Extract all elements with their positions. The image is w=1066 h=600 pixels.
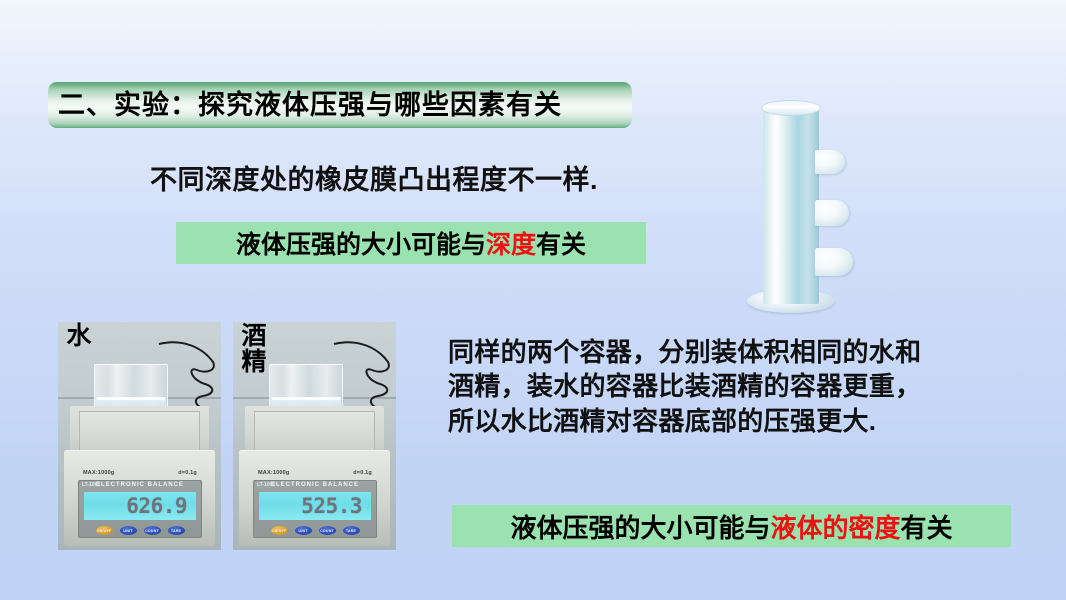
paragraph-line-1: 同样的两个容器，分别装体积相同的水和 (448, 335, 1048, 369)
meniscus-line (272, 397, 340, 400)
photo-label-water: 水 (64, 324, 94, 350)
scale-spec-row: MAX:1000g d=0.1g (79, 470, 201, 480)
scale-brand-label: ELECTRONIC BALANCE (79, 482, 201, 488)
scale-reading-value: 525.3 (301, 496, 362, 517)
scale-spec-d: d=0.1g (353, 470, 372, 480)
scale-plate-inner (79, 411, 200, 453)
cylinder-rim (761, 100, 821, 116)
explanation-paragraph: 同样的两个容器，分别装体积相同的水和 酒精，装水的容器比装酒精的容器更重， 所以… (448, 335, 1048, 438)
conclusion-density-prefix: 液体压强的大小可能与 (510, 508, 770, 545)
scale-button-row: ON/OFF UNIT COUNT TARE (254, 526, 376, 535)
scale-display-panel: MAX:1000g d=0.1g LT-1001 ELECTRONIC BALA… (78, 480, 202, 538)
scale-lcd: 525.3 (259, 492, 371, 520)
scale-button-tare[interactable]: TARE (168, 526, 185, 535)
paragraph-line-2: 酒精，装水的容器比装酒精的容器更重， (448, 369, 1048, 403)
conclusion-density-suffix: 有关 (901, 508, 953, 545)
rubber-membrane-middle-icon (815, 200, 849, 226)
scale-button-row: ON/OFF UNIT COUNT TARE (79, 526, 201, 535)
pressure-cylinder-apparatus (735, 98, 855, 313)
scale-lcd: 626.9 (84, 492, 196, 520)
scale-housing: MAX:1000g d=0.1g LT-1001 ELECTRONIC BALA… (239, 450, 390, 546)
rubber-membrane-top-icon (815, 150, 845, 174)
conclusion-density-accent: 液体的密度 (770, 508, 900, 545)
scale-display-panel: MAX:1000g d=0.1g LT-1001 ELECTRONIC BALA… (253, 480, 377, 538)
scale-button-onoff[interactable]: ON/OFF (271, 526, 288, 535)
scale-reading-value: 626.9 (126, 496, 187, 517)
scale-button-unit[interactable]: UNIT (120, 526, 137, 535)
scale-housing: MAX:1000g d=0.1g LT-1001 ELECTRONIC BALA… (64, 450, 215, 546)
scale-spec-max: MAX:1000g (258, 470, 289, 480)
scale-button-count[interactable]: COUNT (319, 526, 336, 535)
scale-button-onoff[interactable]: ON/OFF (96, 526, 113, 535)
scale-button-count[interactable]: COUNT (144, 526, 161, 535)
observation-statement: 不同深度处的橡皮膜凸出程度不一样. (150, 158, 598, 197)
meniscus-line (97, 397, 165, 400)
scale-spec-d: d=0.1g (178, 470, 197, 480)
photo-balance-alcohol: MAX:1000g d=0.1g LT-1001 ELECTRONIC BALA… (233, 322, 396, 550)
scale-plate-inner (254, 411, 375, 453)
conclusion-density-box: 液体压强的大小可能与液体的密度有关 (452, 505, 1011, 547)
slide-canvas: 二、实验：探究液体压强与哪些因素有关 不同深度处的橡皮膜凸出程度不一样. 液体压… (0, 0, 1066, 600)
paragraph-line-3: 所以水比酒精对容器底部的压强更大. (448, 404, 1048, 438)
conclusion-depth-box: 液体压强的大小可能与深度有关 (176, 222, 646, 264)
scale-spec-row: MAX:1000g d=0.1g (254, 470, 376, 480)
conclusion-depth-accent: 深度 (486, 225, 536, 261)
conclusion-depth-prefix: 液体压强的大小可能与 (236, 225, 486, 261)
page-title: 二、实验：探究液体压强与哪些因素有关 (58, 92, 562, 119)
photo-label-alcohol: 酒精 (239, 324, 269, 375)
conclusion-depth-suffix: 有关 (536, 225, 586, 261)
cylinder-body (763, 108, 819, 304)
photo-balance-water: MAX:1000g d=0.1g LT-1001 ELECTRONIC BALA… (58, 322, 221, 550)
scale-button-tare[interactable]: TARE (343, 526, 360, 535)
section-title-banner: 二、实验：探究液体压强与哪些因素有关 (48, 82, 632, 128)
rubber-membrane-bottom-icon (815, 248, 853, 276)
scale-brand-label: ELECTRONIC BALANCE (254, 482, 376, 488)
scale-button-unit[interactable]: UNIT (295, 526, 312, 535)
scale-spec-max: MAX:1000g (83, 470, 114, 480)
